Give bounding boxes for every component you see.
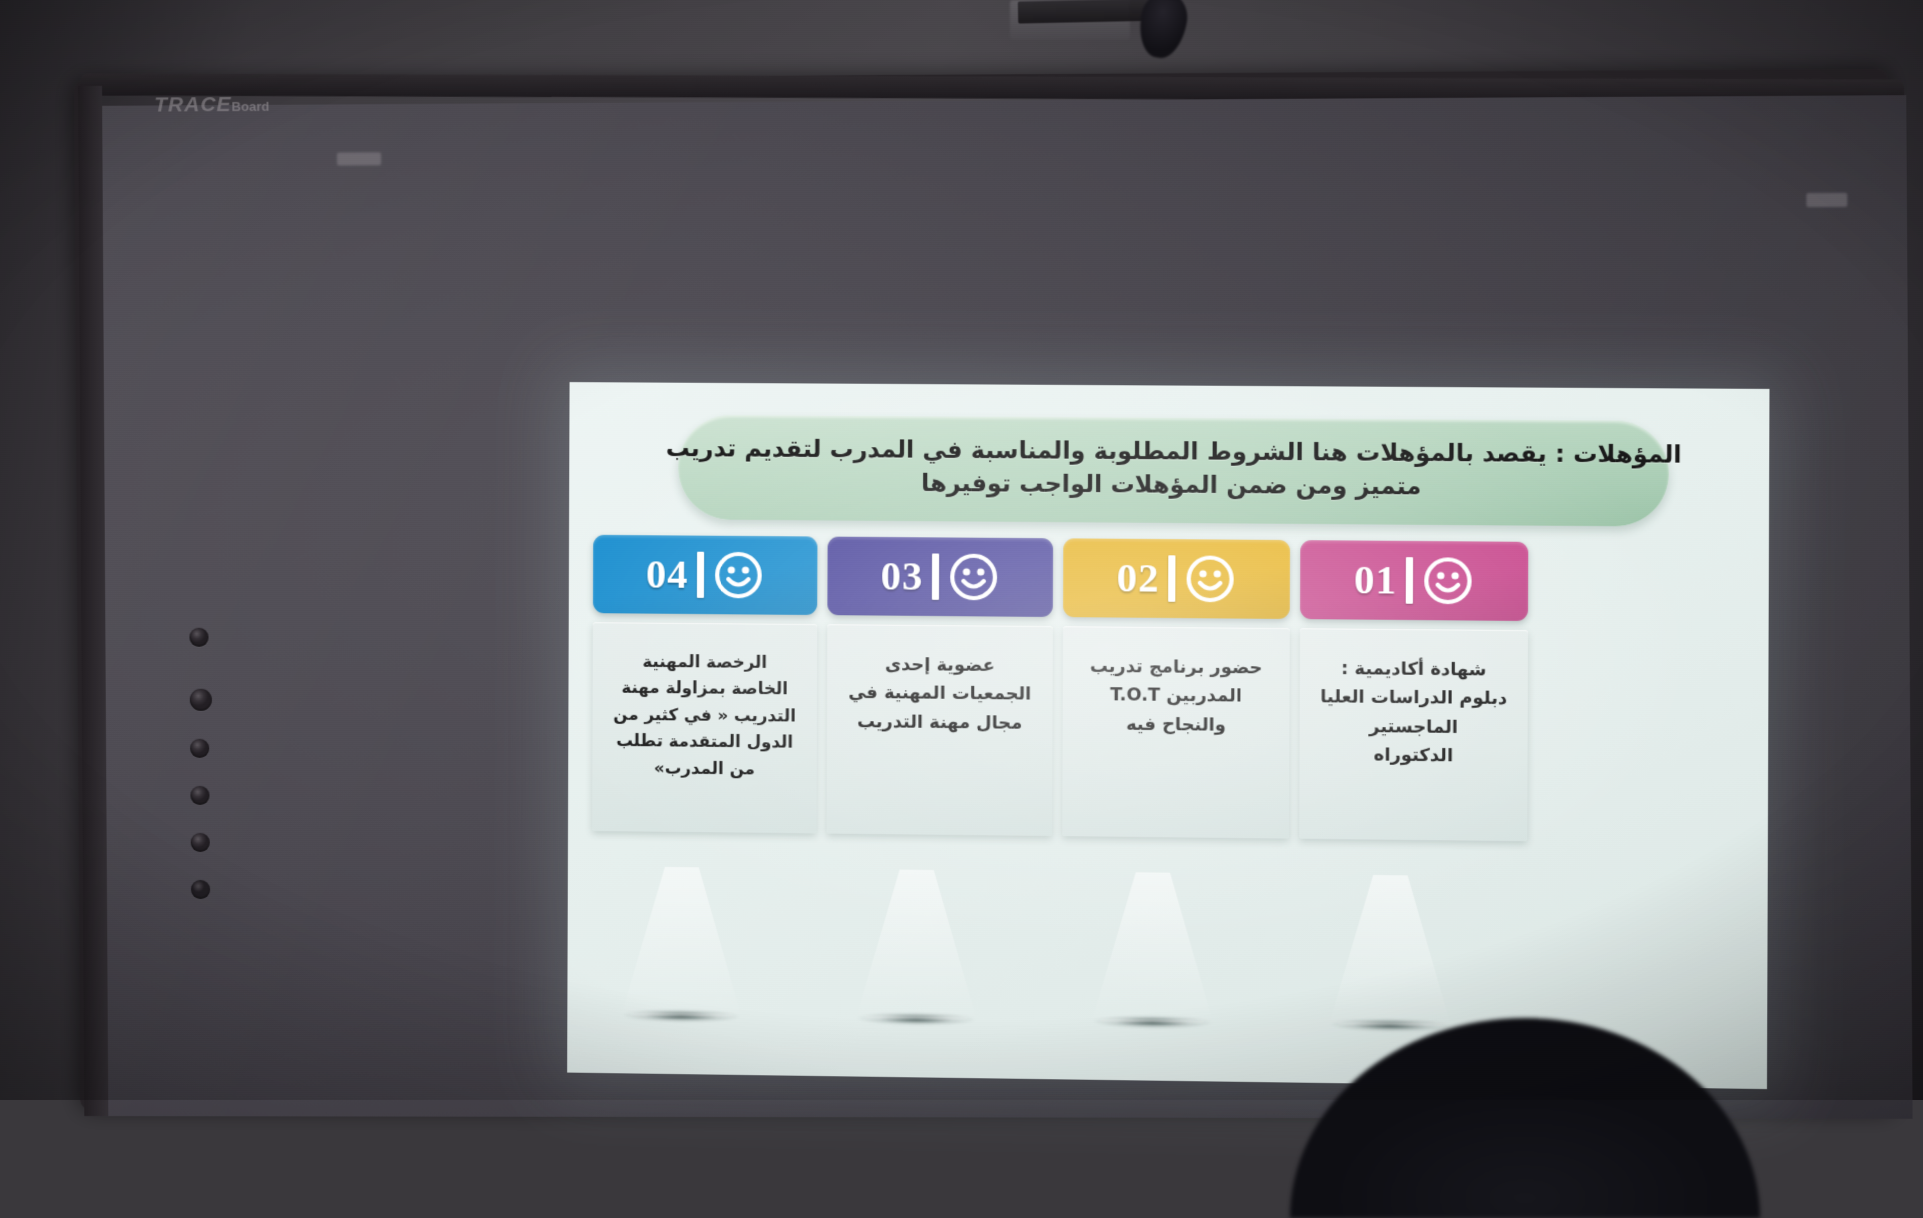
- card-body: شهادة أكاديمية :دبلوم الدراسات العلياالم…: [1299, 628, 1528, 841]
- rail-button-1[interactable]: [189, 628, 208, 647]
- qualification-card[interactable]: 02حضور برنامج تدريبالمدربين T.O.Tوالنجاح…: [1062, 538, 1290, 838]
- brand-suffix: Board: [232, 99, 270, 114]
- card-light-beam: [855, 869, 977, 1022]
- card-body: عضوية إحدىالجمعيات المهنية فيمجال مهنة ا…: [827, 624, 1053, 836]
- rail-button-6[interactable]: [191, 880, 210, 899]
- card-text-line: مجال مهنة التدريب: [841, 708, 1038, 738]
- card-light-beam: [621, 866, 743, 1018]
- card-divider: [931, 553, 938, 599]
- card-text-line: الخاصة بمزاولة مهنة: [607, 675, 803, 703]
- card-text-line: التدريب « في كثير من: [607, 701, 803, 729]
- rail-button-5[interactable]: [191, 833, 210, 852]
- banner-line-2: متميز ومن ضمن المؤهلات الواجب توفيرها: [921, 467, 1421, 504]
- card-number: 03: [881, 556, 924, 597]
- card-header: 04: [593, 535, 818, 615]
- card-text-line: الدكتوراه: [1314, 741, 1513, 772]
- card-number: 02: [1117, 558, 1160, 599]
- card-floor-shadow: [1329, 1018, 1450, 1032]
- card-text-line: الماجستير: [1314, 712, 1513, 743]
- card-number: 04: [646, 554, 689, 595]
- card-header: 03: [827, 537, 1053, 617]
- whiteboard-right-tab: [1806, 193, 1847, 207]
- card-text-line: دبلوم الدراسات العليا: [1314, 683, 1513, 714]
- card-body: الرخصة المهنيةالخاصة بمزاولة مهنةالتدريب…: [592, 622, 817, 833]
- slide-banner: المؤهلات : يقصد بالمؤهلات هنا الشروط الم…: [678, 415, 1669, 527]
- card-number: 01: [1354, 560, 1397, 601]
- card-light-beam: [1328, 874, 1452, 1027]
- qualification-card[interactable]: 04الرخصة المهنيةالخاصة بمزاولة مهنةالتدر…: [592, 535, 817, 834]
- banner-line-1: المؤهلات : يقصد بالمؤهلات هنا الشروط الم…: [666, 432, 1682, 472]
- card-text-line: والنجاح فيه: [1077, 710, 1275, 741]
- rail-button-3[interactable]: [190, 739, 209, 758]
- whiteboard-brand-logo: TRACEBoard: [154, 93, 269, 118]
- room-background: TRACEBoard المؤهلات : يقصد بالمؤهلات هنا…: [0, 0, 1923, 1100]
- whiteboard-top-tab: [337, 152, 381, 165]
- card-header: 02: [1063, 538, 1290, 619]
- qualification-card[interactable]: 03عضوية إحدىالجمعيات المهنية فيمجال مهنة…: [827, 537, 1054, 836]
- smiley-face-icon: [1421, 554, 1475, 607]
- card-divider: [696, 552, 703, 598]
- card-text-line: الجمعيات المهنية في: [841, 679, 1038, 709]
- rail-button-2[interactable]: [190, 689, 212, 711]
- smiley-face-icon: [1183, 552, 1236, 605]
- projected-slide: المؤهلات : يقصد بالمؤهلات هنا الشروط الم…: [567, 382, 1769, 1089]
- card-floor-shadow: [856, 1012, 976, 1026]
- brand-name: TRACE: [154, 93, 232, 116]
- whiteboard-button-rail: [189, 628, 225, 927]
- card-divider: [1168, 555, 1175, 602]
- card-text-line: الرخصة المهنية: [607, 648, 803, 676]
- card-divider: [1405, 557, 1412, 604]
- card-text-line: عضوية إحدى: [841, 650, 1038, 680]
- card-text-line: شهادة أكاديمية :: [1314, 655, 1513, 686]
- interactive-whiteboard: TRACEBoard المؤهلات : يقصد بالمؤهلات هنا…: [74, 69, 1923, 1103]
- card-body: حضور برنامج تدريبالمدربين T.O.Tوالنجاح ف…: [1062, 626, 1289, 838]
- qualification-card[interactable]: 01شهادة أكاديمية :دبلوم الدراسات العلياا…: [1299, 540, 1528, 841]
- card-text-line: الدول المتقدمة تطلب: [607, 728, 803, 756]
- qualification-cards-row: 01شهادة أكاديمية :دبلوم الدراسات العلياا…: [590, 535, 1747, 879]
- card-text-line: حضور برنامج تدريب: [1077, 653, 1275, 683]
- card-light-beam: [1091, 872, 1214, 1025]
- projector-head: [1135, 0, 1192, 61]
- card-header: 01: [1300, 540, 1528, 621]
- card-text-line: المدربين T.O.T: [1077, 681, 1275, 711]
- rail-button-4[interactable]: [190, 786, 209, 805]
- smiley-face-icon: [712, 549, 765, 602]
- card-floor-shadow: [622, 1009, 741, 1023]
- smiley-face-icon: [947, 551, 1000, 604]
- card-text-line: من المدرب»: [606, 754, 802, 783]
- card-floor-shadow: [1092, 1015, 1213, 1029]
